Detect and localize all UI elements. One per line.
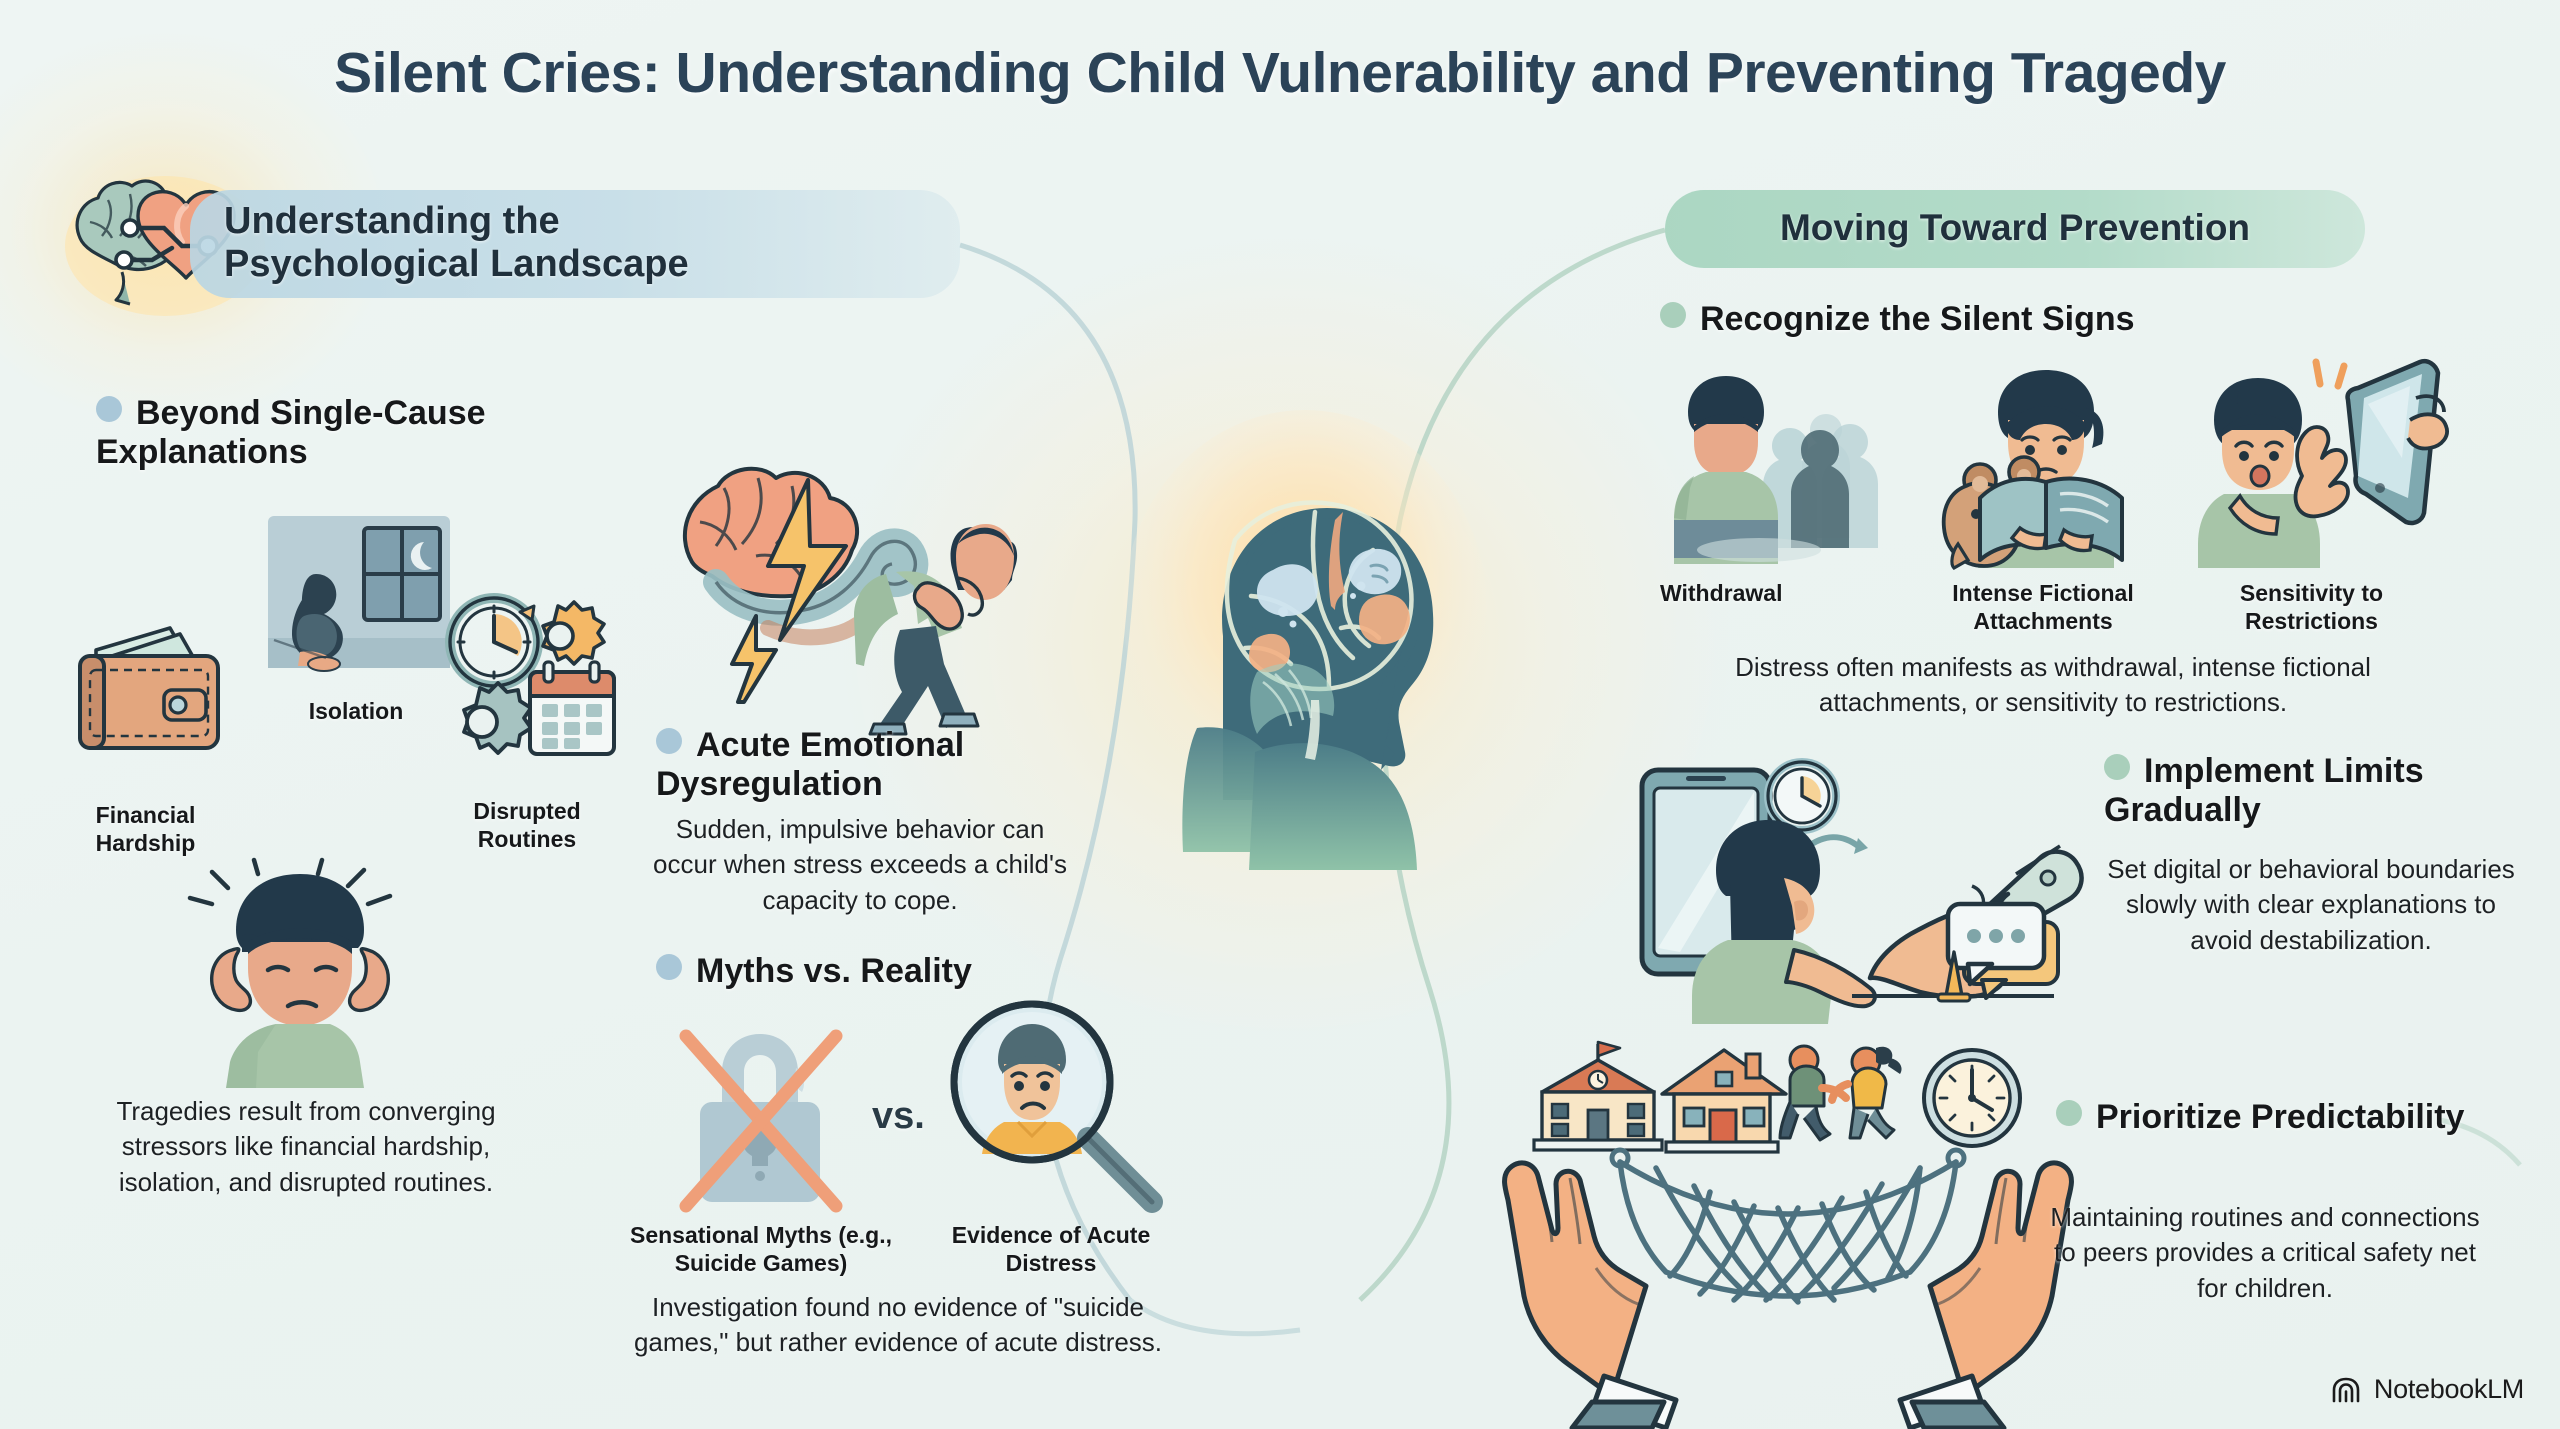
hands-holding-safety-net-icon	[1478, 1036, 2098, 1428]
heading-beyond-single-cause: Beyond Single-Cause Explanations	[96, 394, 526, 472]
heading-label: Beyond Single-Cause Explanations	[96, 394, 486, 471]
bullet-icon	[656, 728, 682, 754]
child-with-teddy-and-book-icon	[1936, 368, 2146, 568]
clock-gears-calendar-icon	[432, 588, 622, 778]
child-upset-at-tablet-removal-icon	[2198, 358, 2438, 568]
versus-label: vs.	[872, 1095, 925, 1138]
child-turned-away-from-group-icon	[1664, 368, 1884, 568]
heading-acute-emotional-dysregulation: Acute Emotional Dysregulation	[656, 726, 1066, 804]
bullet-icon	[96, 396, 122, 422]
body-beyond-single-cause: Tragedies result from converging stresso…	[96, 1094, 516, 1200]
heading-label: Implement Limits Gradually	[2104, 752, 2424, 829]
heading-implement-limits-gradually: Implement Limits Gradually	[2104, 752, 2524, 830]
crossed-out-padlock-icon	[660, 1010, 860, 1220]
body-prioritize-predictability: Maintaining routines and connections to …	[2040, 1200, 2490, 1306]
watermark-label: NotebookLM	[2374, 1374, 2524, 1405]
notebooklm-arc-icon	[2331, 1377, 2363, 1403]
caption-isolation: Isolation	[256, 698, 456, 726]
caption-evidence-acute-distress: Evidence of Acute Distress	[936, 1222, 1166, 1277]
heading-recognize-silent-signs: Recognize the Silent Signs	[1660, 300, 2280, 339]
bullet-icon	[2056, 1100, 2082, 1126]
heading-label: Prioritize Predictability	[2096, 1098, 2464, 1136]
right-panel-pill: Moving Toward Prevention	[1665, 190, 2365, 268]
heading-label: Acute Emotional Dysregulation	[656, 726, 964, 803]
caption-intense-fictional-attachments: Intense Fictional Attachments	[1928, 580, 2158, 635]
child-alone-by-window-icon	[264, 512, 454, 692]
caption-withdrawal: Withdrawal	[1660, 580, 1888, 608]
left-panel-pill-label: Understanding the Psychological Landscap…	[224, 200, 689, 285]
heading-prioritize-predictability: Prioritize Predictability	[2056, 1098, 2476, 1137]
bullet-icon	[2104, 754, 2130, 780]
bullet-icon	[656, 954, 682, 980]
caption-disrupted-routines: Disrupted Routines	[432, 798, 622, 853]
tablet-handoff-clock-chat-icon	[1624, 744, 2094, 1024]
caption-sensitivity-to-restrictions: Sensitivity to Restrictions	[2204, 580, 2419, 635]
brain-lightning-wave-overwhelm-icon	[648, 452, 1068, 732]
body-implement-limits-gradually: Set digital or behavioral boundaries slo…	[2096, 852, 2526, 958]
heading-myths-vs-reality: Myths vs. Reality	[656, 952, 1076, 991]
heading-label: Myths vs. Reality	[696, 952, 972, 990]
notebooklm-watermark: NotebookLM	[2331, 1374, 2524, 1405]
wallet-with-bills-icon	[60, 612, 240, 762]
heading-label: Recognize the Silent Signs	[1700, 300, 2135, 338]
body-acute-emotional-dysregulation: Sudden, impulsive behavior can occur whe…	[650, 812, 1070, 918]
left-panel-pill: Understanding the Psychological Landscap…	[190, 190, 960, 298]
page-title: Silent Cries: Understanding Child Vulner…	[0, 40, 2560, 106]
caption-financial-hardship: Financial Hardship	[58, 802, 233, 857]
child-silhouette-with-brain-icon	[1105, 400, 1505, 870]
bullet-icon	[1660, 302, 1686, 328]
right-panel-pill-label: Moving Toward Prevention	[1780, 207, 2250, 248]
body-myths-vs-reality: Investigation found no evidence of "suic…	[618, 1290, 1178, 1361]
body-recognize-silent-signs: Distress often manifests as withdrawal, …	[1658, 650, 2448, 721]
caption-sensational-myths: Sensational Myths (e.g., Suicide Games)	[626, 1222, 896, 1277]
stressed-child-holding-head-icon	[172, 858, 432, 1088]
magnifier-over-sad-child-icon	[940, 990, 1170, 1220]
